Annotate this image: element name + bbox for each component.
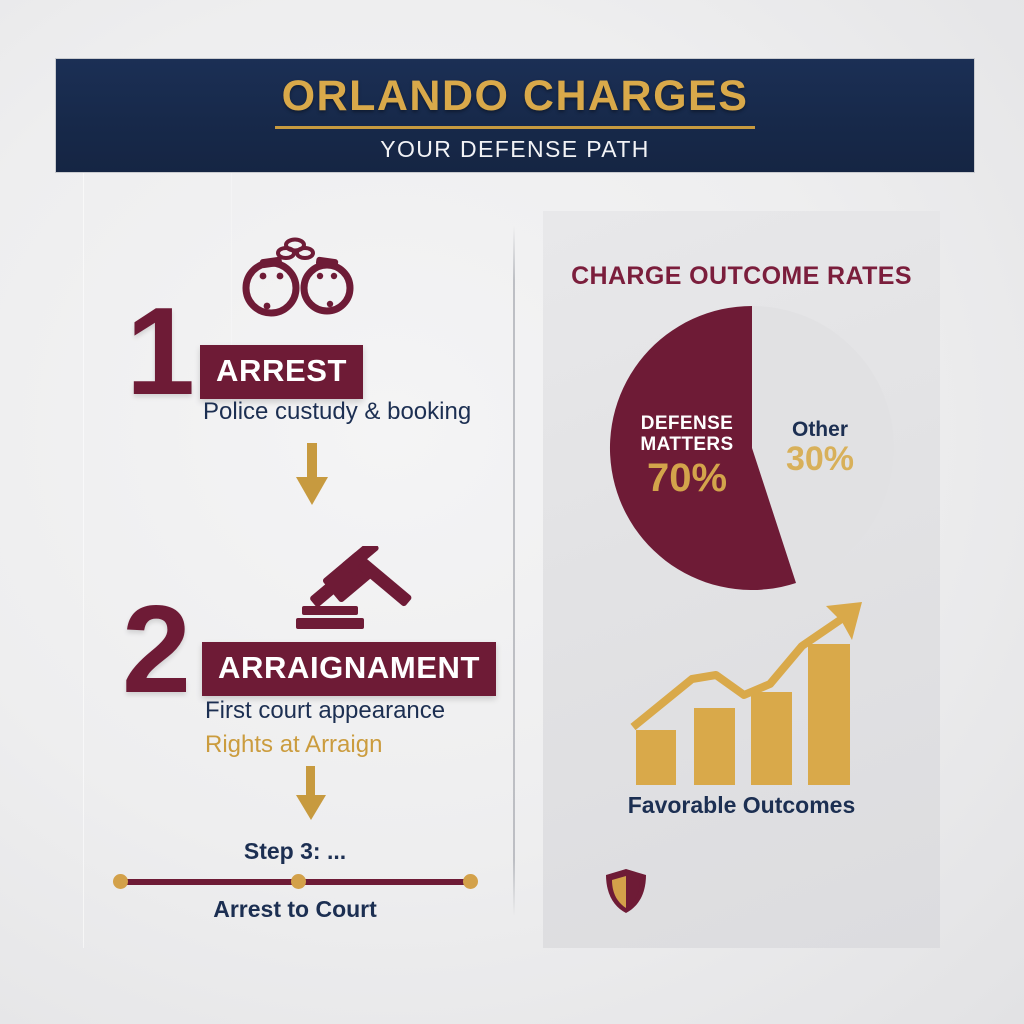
step-description-2: First court appearance [205,697,445,725]
header-divider-rule [275,126,755,129]
timeline-dot[interactable] [463,874,478,889]
step-description-2-secondary: Rights at Arraign [205,731,382,759]
bar [808,644,850,785]
bar [636,730,676,785]
column-divider [513,226,515,916]
arrow-down-icon [292,443,332,507]
bar-chart [630,600,878,785]
background-texture-line [83,108,84,948]
handcuffs-icon [238,236,358,318]
infographic-canvas: ORLANDO CHARGES YOUR DEFENSE PATH 1 A [0,0,1024,1024]
timeline-caption: Arrest to Court [130,896,460,923]
timeline-label: Step 3: ... [130,838,460,865]
header-banner: ORLANDO CHARGES YOUR DEFENSE PATH [55,58,975,173]
brand-lockup: DEFENSE MATTERS [604,866,924,914]
pie-slice-value: 30% [758,441,882,478]
pie-slice-value: 70% [612,456,762,500]
pie-slice-label-defense: DEFENSE MATTERS 70% [612,414,762,500]
step-number-1: 1 [126,290,195,414]
timeline-dot[interactable] [291,874,306,889]
pie-slice-name: DEFENSE MATTERS [612,414,762,456]
bar [751,692,792,785]
pie-slice-name: Other [758,418,882,441]
bar [694,708,735,785]
step-badge-arraignment[interactable]: ARRAIGNAMENT [202,642,496,696]
header-subtitle: YOUR DEFENSE PATH [56,136,974,163]
shield-icon [604,868,648,914]
timeline-dot[interactable] [113,874,128,889]
step-badge-arrest[interactable]: ARREST [200,345,363,399]
step-number-2: 2 [122,588,191,712]
pie-slice-label-other: Other 30% [758,418,882,478]
panel-title: CHARGE OUTCOME RATES [543,262,940,291]
bar-chart-caption: Favorable Outcomes [543,792,940,819]
gavel-icon [288,546,416,634]
step-description-1: Police custudy & booking [203,398,471,426]
arrow-down-icon [293,766,329,822]
page-title: ORLANDO CHARGES [56,75,974,118]
